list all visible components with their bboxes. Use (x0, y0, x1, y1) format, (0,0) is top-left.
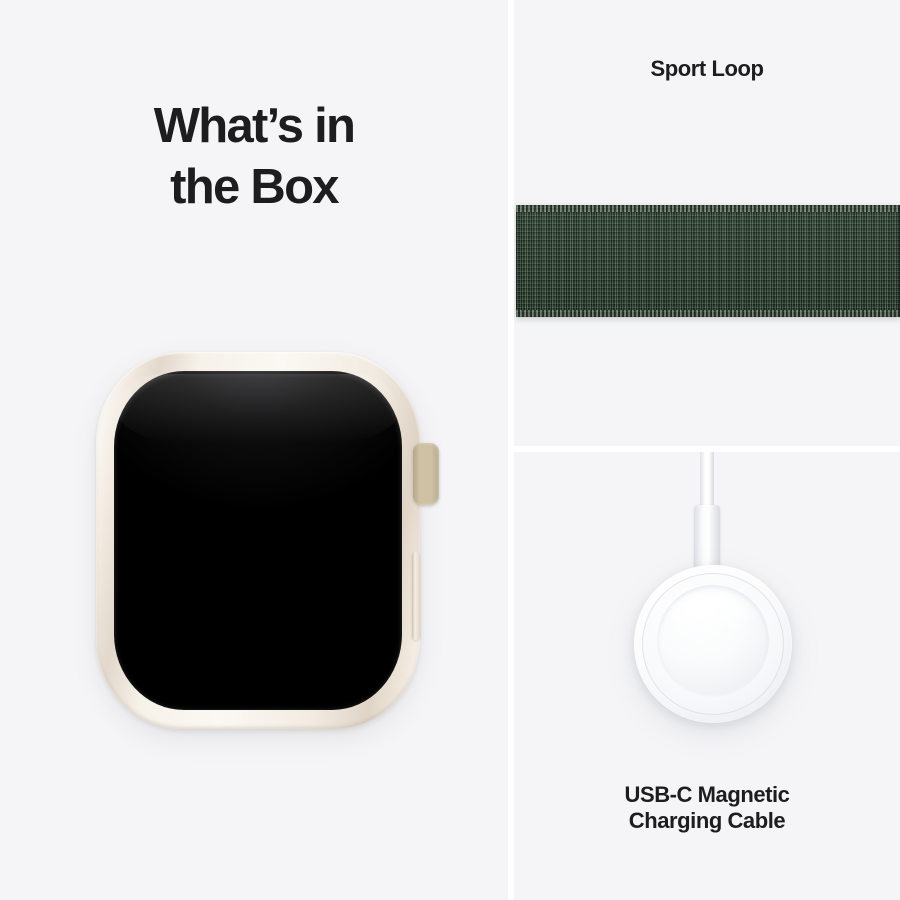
digital-crown-shading (413, 443, 439, 505)
charging-puck-face (657, 585, 769, 697)
sport-loop-band (516, 205, 900, 317)
side-button-icon (412, 552, 420, 640)
apple-watch-illustration (96, 352, 420, 729)
band-edge-bottom (516, 310, 900, 317)
band-edge-top (516, 205, 900, 212)
watch-display (114, 371, 402, 710)
cable-strain-relief (694, 505, 720, 569)
sport-loop-illustration (514, 0, 900, 446)
panel-charging-cable: USB-C Magnetic Charging Cable (514, 452, 900, 900)
product-gallery-image: What’s in the Box Sport Loop (0, 0, 900, 900)
panel-sport-loop: Sport Loop (514, 0, 900, 446)
panel-whats-in-the-box: What’s in the Box (0, 0, 508, 900)
page-title: What’s in the Box (40, 96, 468, 218)
charging-cable-caption: USB-C Magnetic Charging Cable (514, 782, 900, 834)
